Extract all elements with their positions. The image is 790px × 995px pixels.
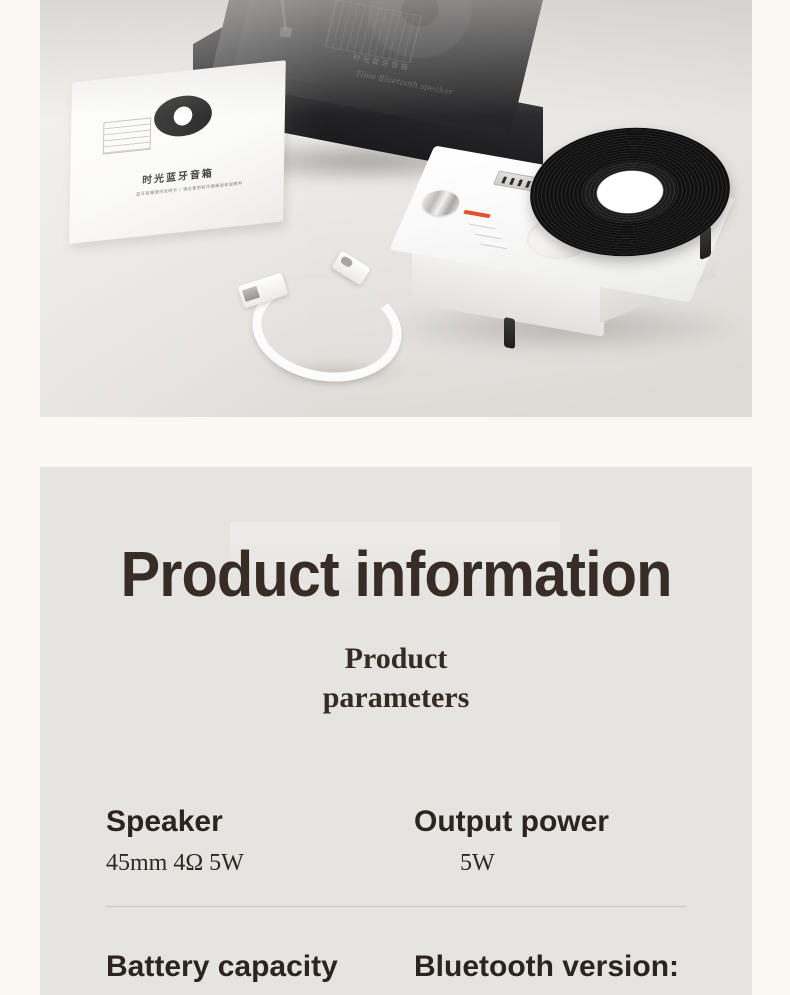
product-photo: 时光蓝牙音箱 Time Bluetooth speaker 时光蓝牙音箱 蓝牙音…	[40, 0, 752, 417]
speaker-foot-front	[504, 317, 515, 349]
specification-table: Speaker 45mm 4Ω 5W Output power 5W Batte…	[106, 802, 686, 987]
product-information-panel: Product information Product parameters S…	[40, 467, 752, 995]
page-title: Product information	[65, 537, 727, 611]
spec-label: Speaker	[106, 802, 396, 842]
spec-value: 45mm 4Ω 5W	[106, 846, 396, 880]
spec-label: Output power	[414, 802, 686, 842]
row-divider	[106, 906, 686, 907]
spec-label: Bluetooth version:	[414, 947, 686, 987]
manual-diagram	[103, 117, 151, 154]
manual-sheet	[69, 60, 286, 244]
table-row: Speaker 45mm 4Ω 5W Output power 5W	[106, 802, 686, 880]
usb-cable-image	[230, 255, 430, 390]
spec-cell-battery-capacity: Battery capacity	[106, 947, 396, 987]
product-detail-page: 时光蓝牙音箱 Time Bluetooth speaker 时光蓝牙音箱 蓝牙音…	[0, 0, 790, 995]
section-subtitle: Product parameters	[40, 639, 752, 717]
subtitle-line-1: Product	[40, 639, 752, 678]
speaker-product-image: Timeless Speaker BLUETOOTH SPEAKER SYSTE…	[378, 150, 750, 365]
spec-cell-speaker: Speaker 45mm 4Ω 5W	[106, 802, 396, 880]
spec-value: 5W	[414, 846, 686, 880]
spec-label: Battery capacity	[106, 947, 396, 987]
spec-cell-bluetooth-version: Bluetooth version:	[396, 947, 686, 987]
spec-cell-output-power: Output power 5W	[396, 802, 686, 880]
table-row: Battery capacity Bluetooth version:	[106, 947, 686, 987]
manual-card-image: 时光蓝牙音箱 蓝牙音箱使用说明书 / 请在使用前仔细阅读本说明书	[70, 72, 285, 232]
subtitle-line-2: parameters	[40, 678, 752, 717]
